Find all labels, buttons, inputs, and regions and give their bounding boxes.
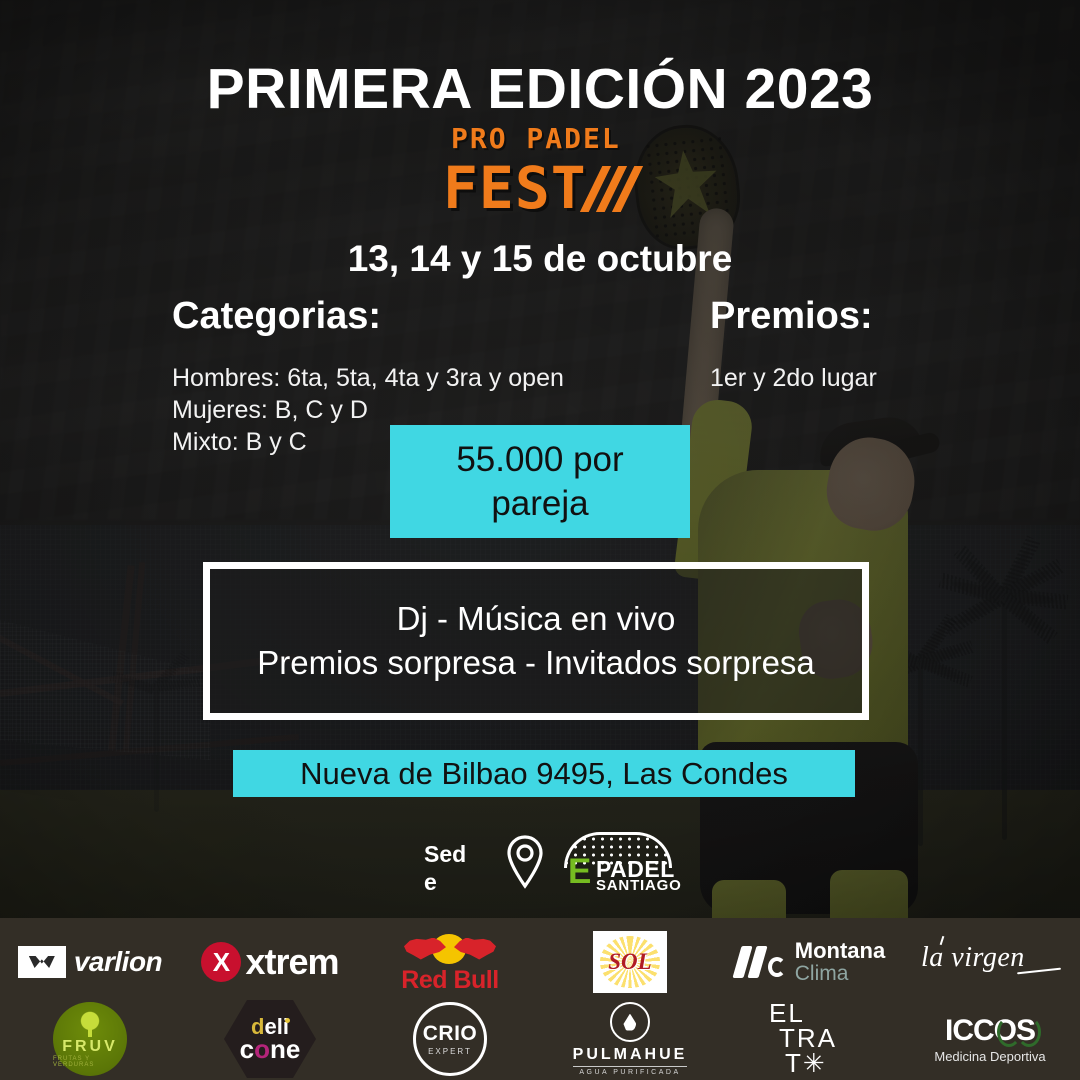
address-badge: Nueva de Bilbao 9495, Las Condes [233,750,855,797]
xtrem-x-badge-icon: X [201,942,241,982]
sponsor-la-virgen: la virgen [900,924,1080,1000]
sponsor-montana-clima: Montana Clima [720,924,900,1000]
crio-circle-icon: CRIO EXPERT [413,1002,487,1076]
logo-main-text: FEST [443,154,587,222]
prizes-list: 1er y 2do lugar [710,362,877,394]
sponsor-label: Red Bull [401,968,498,993]
chevron-triple-right-icon [591,166,653,214]
sponsor-label: Montana [795,939,885,962]
prizes-heading: Premios: [710,295,873,338]
sponsor-fruv: FRUV FRUTAS Y VERDURAS [0,1000,180,1078]
sponsor-label-3: T✳ [785,1051,827,1076]
sponsor-label: FRUV [62,1038,118,1056]
sponsor-crio-expert: CRIO EXPERT [360,1000,540,1078]
el-trat-icon: EL TRA T✳ [765,1001,855,1077]
pro-padel-fest-logo: PRO PADEL FEST [433,122,653,222]
poster-root: PRIMERA EDICIÓN 2023 PRO PADEL FEST 13, … [0,0,1080,1080]
sponsor-red-bull: Red Bull [360,924,540,1000]
sponsor-sublabel: FRUTAS Y VERDURAS [53,1056,127,1068]
sponsor-label: ICCOS [945,1014,1035,1048]
sponsor-label: CRIO [423,1023,478,1044]
water-drop-icon [610,1002,650,1042]
list-item: 1er y 2do lugar [710,362,877,394]
sponsor-xtrem: X xtrem [180,924,360,1000]
sponsor-label: la virgen [921,942,1025,974]
page-title: PRIMERA EDICIÓN 2023 [0,56,1080,122]
list-item: Mujeres: B, C y D [172,394,564,426]
venue-label: Sede [424,840,472,896]
red-bull-bulls-icon [402,932,498,966]
la-virgen-script-icon: la virgen [915,936,1065,988]
fruv-tree-icon [77,1011,103,1037]
sponsor-strip: varlion X xtrem Red Bull [0,918,1080,1080]
epadel-santiago-logo: E PADEL SANTIAGO [564,832,672,894]
sponsor-row-1: varlion X xtrem Red Bull [0,924,1080,1000]
epadel-city: SANTIAGO [596,877,682,894]
sponsor-label: PULMAHUE [573,1046,688,1064]
sponsor-sublabel: AGUA PURIFICADA [573,1066,688,1076]
sponsor-deli-cone: ddelieli cone [180,1000,360,1078]
price-badge: 55.000 porpareja [390,425,690,538]
sponsor-varlion: varlion [0,924,180,1000]
sponsor-sublabel: cone [240,1037,301,1062]
sponsor-label: SOL [608,949,651,975]
laurel-wreath-icon [997,1017,1041,1043]
sponsor-row-2: FRUV FRUTAS Y VERDURAS ddelieli cone CRI… [0,1000,1080,1078]
poster-content: PRIMERA EDICIÓN 2023 PRO PADEL FEST 13, … [0,0,1080,1080]
epadel-letter: E [568,854,591,889]
sponsor-el-trat: EL TRA T✳ [720,1000,900,1078]
categories-heading: Categorias: [172,295,381,338]
venue-row: Sede E PADEL SANTIAGO [424,832,674,904]
sponsor-pulmahue: PULMAHUE AGUA PURIFICADA [540,1000,720,1078]
sponsor-label: ddelieli [251,1017,289,1037]
sponsor-sublabel: EXPERT [428,1047,472,1056]
varlion-mark-icon [18,946,66,978]
logo-top-text: PRO PADEL [451,122,621,155]
extras-line-1: Dj - Música en vivo [397,600,676,638]
location-pin-icon [504,834,546,890]
extras-box: Dj - Música en vivo Premios sorpresa - I… [203,562,869,720]
sponsor-label: xtrem [245,941,338,983]
sponsor-label: varlion [74,946,162,978]
sponsor-sublabel: Medicina Deportiva [934,1049,1045,1064]
montana-mc-mark-icon [735,944,787,980]
address-text: Nueva de Bilbao 9495, Las Condes [300,756,788,792]
event-dates: 13, 14 y 15 de octubre [0,238,1080,280]
deli-cone-hexagon-icon: ddelieli cone [224,1000,316,1078]
sponsor-iccos: ICCOS Medicina Deportiva [900,1000,1080,1078]
extras-line-2: Premios sorpresa - Invitados sorpresa [257,644,815,682]
sponsor-sol: SOL [540,924,720,1000]
sponsor-sublabel: Clima [795,963,885,985]
price-text: 55.000 porpareja [456,438,623,526]
list-item: Hombres: 6ta, 5ta, 4ta y 3ra y open [172,362,564,394]
